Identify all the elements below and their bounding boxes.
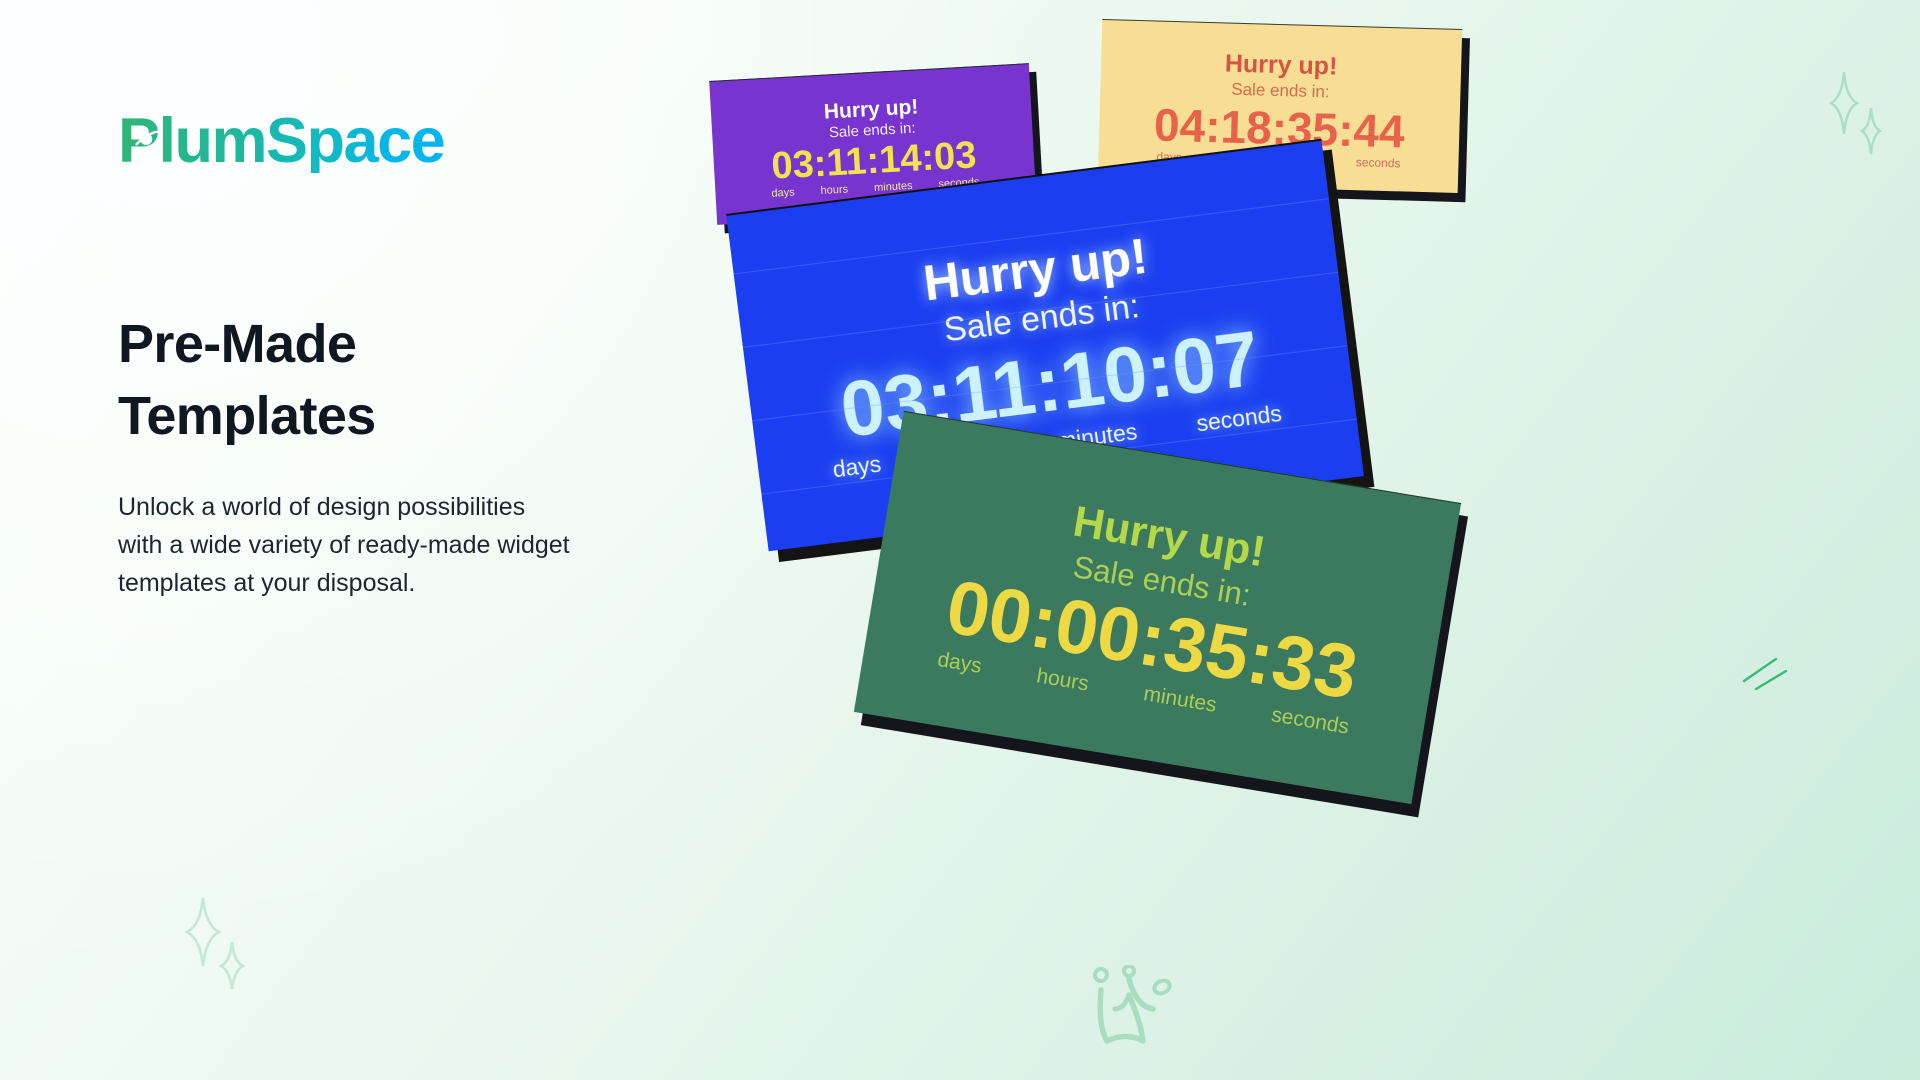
countdown-title: Hurry up! bbox=[1225, 51, 1338, 81]
sparkle-pair-bottom-left-icon bbox=[185, 890, 255, 1000]
hero-text-column: PlumSpace Pre-Made Templates Unlock a wo… bbox=[118, 110, 678, 602]
countdown-widget-green[interactable]: Hurry up! Sale ends in: 00:00:35:33 days… bbox=[854, 411, 1461, 804]
brand-logo[interactable]: PlumSpace bbox=[118, 110, 678, 173]
hero-description: Unlock a world of design possibilities w… bbox=[118, 488, 573, 602]
page-title: Pre-Made Templates bbox=[118, 308, 548, 453]
unit-label-days: days bbox=[771, 187, 795, 200]
spark-lines-green-icon bbox=[1742, 655, 1802, 695]
countdown-subtitle: Sale ends in: bbox=[1231, 80, 1330, 103]
planet-ring-icon bbox=[132, 124, 162, 154]
unit-label-seconds: seconds bbox=[1356, 155, 1401, 170]
unit-label-hours: hours bbox=[820, 184, 848, 198]
brand-logo-text: PlumSpace bbox=[118, 110, 444, 173]
crown-doodle-icon bbox=[1085, 965, 1215, 1070]
sparkle-pair-top-right-icon bbox=[1828, 68, 1888, 163]
